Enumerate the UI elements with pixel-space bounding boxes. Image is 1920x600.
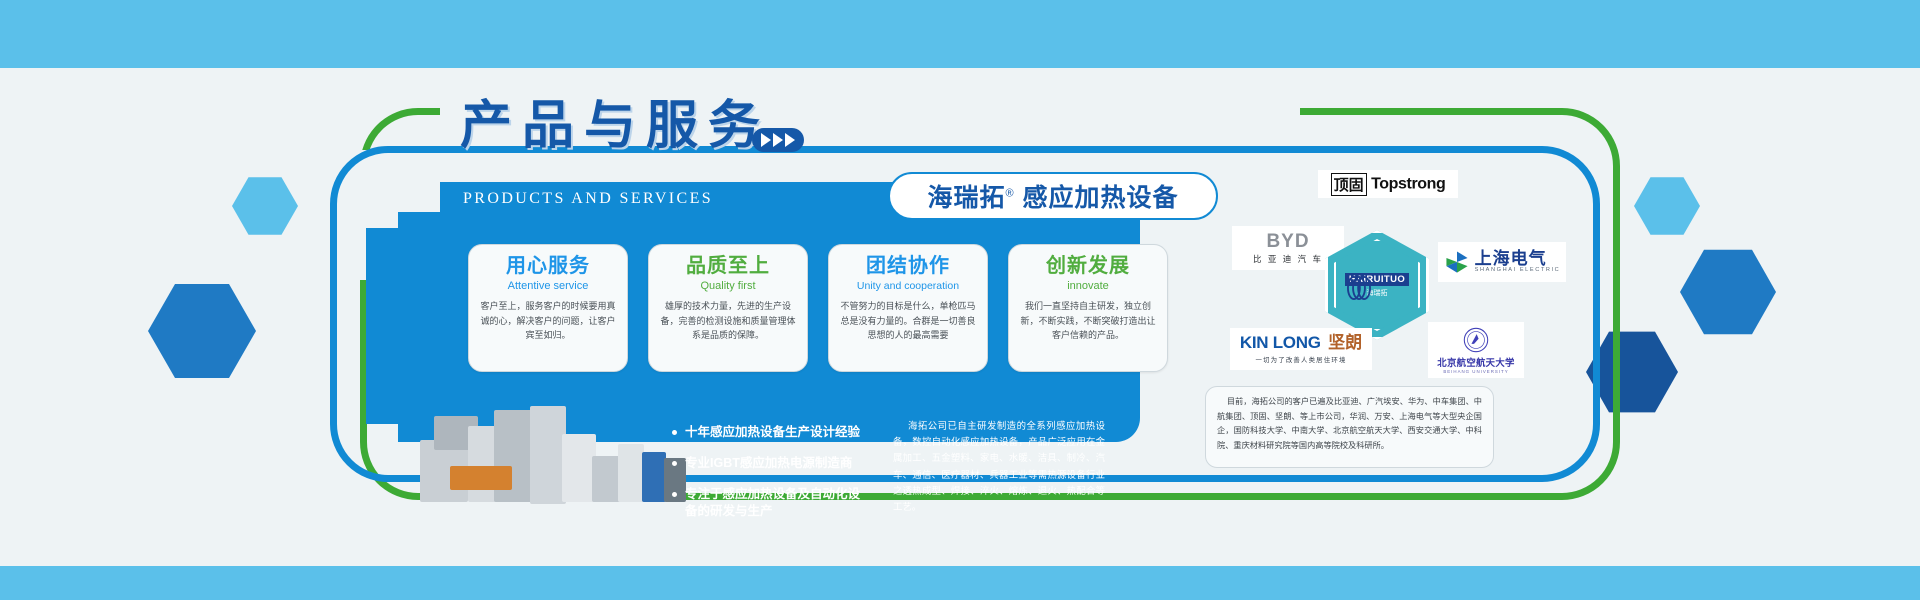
card-description: 我们一直坚持自主研发，独立创新，不断实践，不断突破打造出让客户信赖的产品。 bbox=[1017, 299, 1159, 343]
product-pill-text: 海瑞拓® 感应加热设备 bbox=[927, 178, 1178, 214]
hairuituo-inner-hex: HAIRUITUO 海瑞拓 bbox=[1334, 239, 1420, 331]
shanghai-electric-mark-icon bbox=[1444, 249, 1470, 275]
list-item: 十年感应加热设备生产设计经验 bbox=[672, 424, 872, 441]
card-title-cn: 品质至上 bbox=[657, 255, 799, 277]
value-card: 团结协作 Unity and cooperation 不管努力的目标是什么，单枪… bbox=[828, 244, 988, 372]
logo-shanghai-electric-en: SHANGHAI ELECTRIC bbox=[1475, 268, 1561, 274]
logo-shanghai-electric-cn: 上海电气 bbox=[1475, 250, 1561, 268]
decor-hexagon-light-left bbox=[232, 176, 298, 236]
decor-hexagon-mid-left bbox=[148, 282, 256, 380]
value-card: 用心服务 Attentive service 客户至上，服务客户的时候要用真诚的… bbox=[468, 244, 628, 372]
card-title-en: Unity and cooperation bbox=[837, 280, 979, 292]
logo-topstrong: 顶固 Topstrong bbox=[1318, 170, 1458, 198]
decor-hexagon-mid-right bbox=[1680, 248, 1776, 336]
value-card: 创新发展 innovate 我们一直坚持自主研发，独立创新，不断实践，不断突破打… bbox=[1008, 244, 1168, 372]
value-card: 品质至上 Quality first 雄厚的技术力量，先进的生产设备，完善的检测… bbox=[648, 244, 808, 372]
beihang-seal-icon bbox=[1463, 327, 1489, 353]
logo-kinlong-en: KIN LONG bbox=[1240, 333, 1321, 352]
customer-list-box: 目前，海拓公司的客户已遍及比亚迪、广汽埃安、华为、中车集团、中航集团、顶固、坚朗… bbox=[1205, 386, 1494, 468]
machine-photo bbox=[420, 404, 695, 516]
product-name: 感应加热设备 bbox=[1023, 184, 1179, 212]
logo-topstrong-text: 顶固 Topstrong bbox=[1331, 173, 1446, 196]
card-title-en: innovate bbox=[1017, 280, 1159, 292]
logo-kinlong-cn: 坚朗 bbox=[1328, 333, 1362, 352]
card-description: 客户至上，服务客户的时候要用真诚的心，解决客户的问题，让客户宾至如归。 bbox=[477, 299, 619, 343]
logo-beihang-university: 北京航空航天大学 BEIHANG UNIVERSITY bbox=[1428, 322, 1524, 378]
top-cyan-bar bbox=[0, 0, 1920, 68]
poster-canvas: 产品与服务 PRODUCTS AND SERVICES 海瑞拓® 感应加热设备 … bbox=[0, 0, 1920, 600]
logo-topstrong-en: Topstrong bbox=[1371, 175, 1445, 192]
product-name-pill: 海瑞拓® 感应加热设备 bbox=[888, 172, 1218, 220]
logo-byd-cn: 比 亚 迪 汽 车 bbox=[1253, 253, 1323, 265]
card-description: 雄厚的技术力量，先进的生产设备，完善的检测设施和质量管理体系是品质的保障。 bbox=[657, 299, 799, 343]
bottom-cyan-bar bbox=[0, 566, 1920, 600]
logo-shanghai-electric: 上海电气 SHANGHAI ELECTRIC bbox=[1438, 242, 1566, 282]
blue-plate-left-taper bbox=[366, 228, 426, 424]
machine-part bbox=[562, 434, 596, 502]
list-item: 专业IGBT感应加热电源制造商 bbox=[672, 455, 872, 472]
triple-chevron-right-icon bbox=[752, 128, 804, 152]
page-title: 产品与服务 bbox=[460, 100, 770, 152]
card-title-en: Quality first bbox=[657, 280, 799, 292]
page-title-en: PRODUCTS AND SERVICES bbox=[463, 190, 713, 208]
coil-rings-icon bbox=[1342, 271, 1376, 305]
card-title-cn: 用心服务 bbox=[477, 255, 619, 277]
company-intro-paragraph: 海拓公司已自主研发制造的全系列感应加热设备，数控自动化感应加热设备，产品广泛应用… bbox=[893, 418, 1105, 515]
card-title-en: Attentive service bbox=[477, 280, 619, 292]
logo-kinlong-slogan: 一切为了改善人类居住环境 bbox=[1255, 355, 1346, 364]
logo-topstrong-cn: 顶固 bbox=[1331, 173, 1367, 196]
machine-part bbox=[450, 466, 512, 490]
logo-kinlong: KIN LONG 坚朗 一切为了改善人类居住环境 bbox=[1230, 328, 1372, 370]
decor-hexagon-light-right bbox=[1634, 176, 1700, 236]
brand-name: 海瑞拓 bbox=[927, 184, 1005, 212]
list-item: 专注于感应加热设备及自动化设备的研发与生产 bbox=[672, 486, 872, 520]
feature-bullet-list: 十年感应加热设备生产设计经验 专业IGBT感应加热电源制造商 专注于感应加热设备… bbox=[672, 424, 872, 534]
card-title-cn: 团结协作 bbox=[837, 255, 979, 277]
registered-mark-icon: ® bbox=[1005, 188, 1014, 200]
logo-byd-en: BYD bbox=[1266, 231, 1309, 253]
machine-part bbox=[642, 452, 666, 502]
logo-beihang-en: BEIHANG UNIVERSITY bbox=[1443, 369, 1508, 374]
logo-beihang-cn: 北京航空航天大学 bbox=[1437, 355, 1514, 369]
machine-part bbox=[530, 406, 566, 504]
customer-list-paragraph: 目前，海拓公司的客户已遍及比亚迪、广汽埃安、华为、中车集团、中航集团、顶固、坚朗… bbox=[1217, 395, 1482, 453]
card-description: 不管努力的目标是什么，单枪匹马总是没有力量的。合群是一切善良思想的人的最高需要 bbox=[837, 299, 979, 343]
page-title-cn: 产品与服务 bbox=[460, 100, 770, 152]
card-title-cn: 创新发展 bbox=[1017, 255, 1159, 277]
machine-part bbox=[618, 444, 644, 502]
